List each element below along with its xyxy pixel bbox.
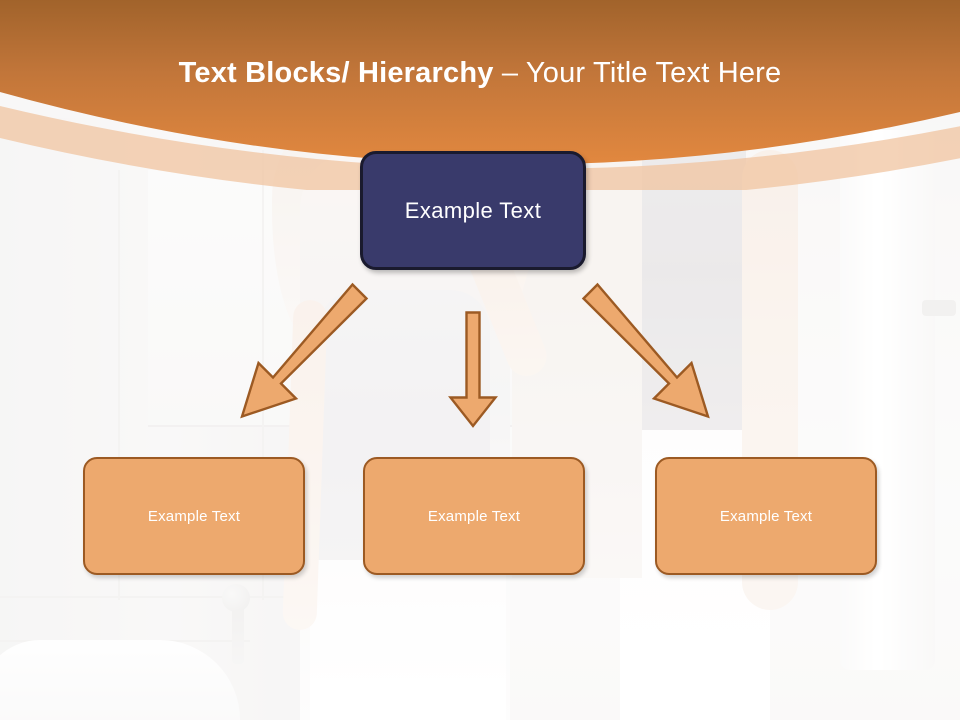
background-photo	[0, 0, 960, 720]
photo-whitewash-overlay	[0, 0, 960, 720]
hierarchy-root-label: Example Text	[405, 198, 541, 224]
hierarchy-child-box-1[interactable]: Example Text	[83, 457, 305, 575]
hierarchy-child-box-2[interactable]: Example Text	[363, 457, 585, 575]
page-title: Text Blocks/ Hierarchy – Your Title Text…	[0, 53, 960, 93]
hierarchy-child-label-3: Example Text	[720, 508, 812, 525]
hierarchy-child-label-1: Example Text	[148, 508, 240, 525]
hierarchy-root-box[interactable]: Example Text	[360, 151, 586, 270]
page-title-light: Your Title Text Here	[526, 57, 781, 89]
page-title-bold: Text Blocks/ Hierarchy	[179, 57, 502, 89]
slide-canvas: Text Blocks/ Hierarchy – Your Title Text…	[0, 0, 960, 720]
page-title-dash: –	[502, 57, 526, 89]
hierarchy-child-box-3[interactable]: Example Text	[655, 457, 877, 575]
hierarchy-child-label-2: Example Text	[428, 508, 520, 525]
